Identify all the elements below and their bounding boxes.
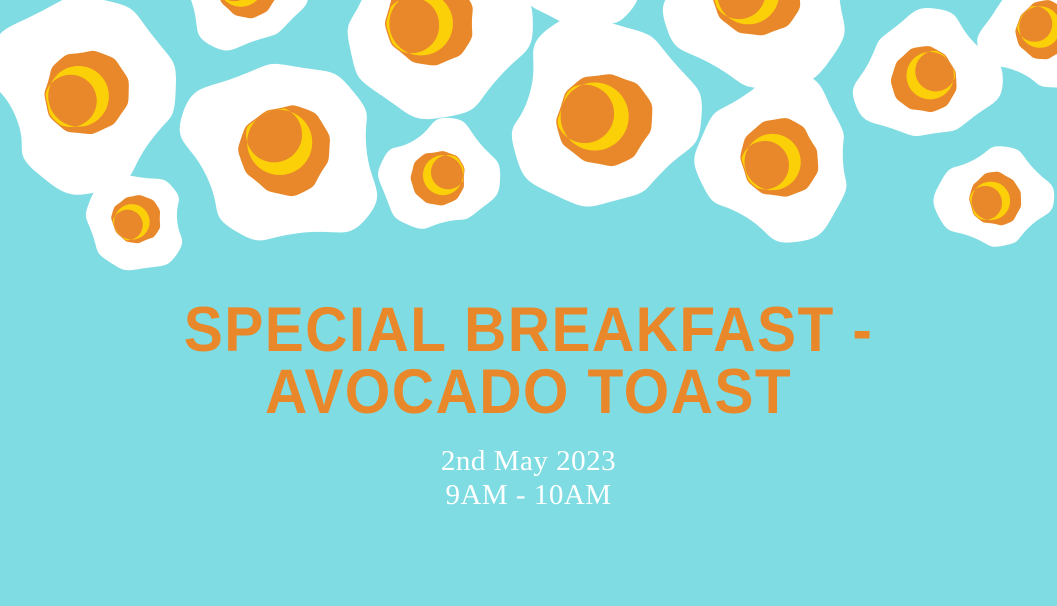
fried-egg-icon — [184, 0, 311, 50]
poster-canvas: SPECIAL BREAKFAST - AVOCADO TOAST 2nd Ma… — [0, 0, 1057, 606]
fried-egg-icon — [86, 176, 182, 271]
fried-egg-icon — [180, 64, 377, 241]
event-time: 9AM - 10AM — [0, 479, 1057, 512]
poster-text-block: SPECIAL BREAKFAST - AVOCADO TOAST 2nd Ma… — [0, 300, 1057, 512]
fried-egg-icon — [663, 0, 845, 88]
fried-egg-pattern-decoration — [0, 0, 1057, 290]
egg-group — [0, 0, 1057, 270]
page-title-line-1: SPECIAL BREAKFAST - — [56, 300, 1002, 362]
fried-egg-icon — [933, 146, 1054, 246]
event-meta: 2nd May 2023 9AM - 10AM — [0, 445, 1057, 511]
fried-egg-icon — [0, 0, 176, 195]
page-title-line-2: AVOCADO TOAST — [56, 362, 1002, 424]
fried-egg-icon — [853, 8, 1003, 136]
fried-egg-icon — [348, 0, 533, 119]
fried-egg-icon — [378, 118, 500, 229]
event-date: 2nd May 2023 — [0, 445, 1057, 478]
fried-egg-icon — [694, 71, 846, 242]
fried-egg-icon — [516, 0, 638, 25]
page-title: SPECIAL BREAKFAST - AVOCADO TOAST — [37, 300, 1020, 423]
fried-egg-icon — [512, 15, 702, 206]
egg-white-shape — [516, 0, 638, 25]
